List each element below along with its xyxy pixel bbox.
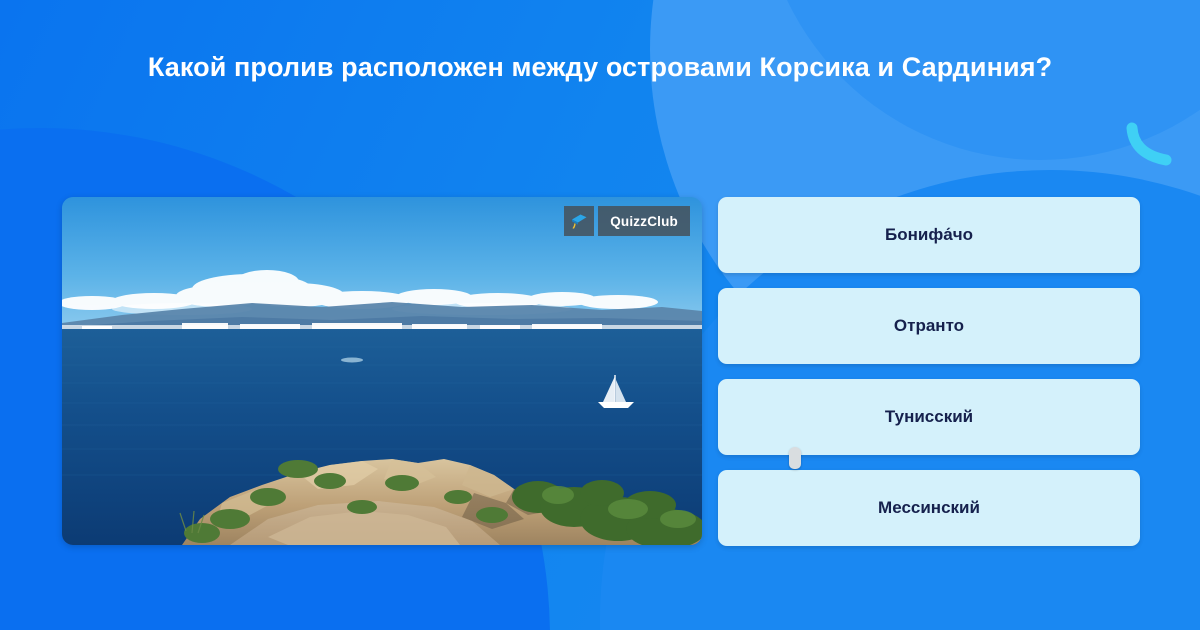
answer-option-1-label: Бонифа́чо: [885, 225, 973, 245]
pointer-tail-icon: [789, 447, 801, 469]
brand-badge: QuizzClub: [564, 206, 690, 236]
coastal-photo: [62, 197, 702, 545]
quiz-card: Какой пролив расположен между островами …: [0, 0, 1200, 630]
answer-option-3-label: Тунисский: [885, 407, 973, 427]
answer-option-2-label: Отранто: [894, 316, 964, 336]
answer-option-4[interactable]: Мессинский: [718, 470, 1140, 546]
cyan-arc-icon: [1124, 120, 1176, 172]
answer-options-list: Бонифа́чо Отранто Тунисский Мессинский: [718, 197, 1140, 546]
answer-option-4-label: Мессинский: [878, 498, 980, 518]
answer-option-1[interactable]: Бонифа́чо: [718, 197, 1140, 273]
question-image: QuizzClub: [62, 197, 702, 545]
brand-name: QuizzClub: [598, 206, 690, 236]
answer-option-2[interactable]: Отранто: [718, 288, 1140, 364]
answer-option-3[interactable]: Тунисский: [718, 379, 1140, 455]
graduation-cap-icon: [564, 206, 594, 236]
page-title: Какой пролив расположен между островами …: [80, 46, 1120, 89]
